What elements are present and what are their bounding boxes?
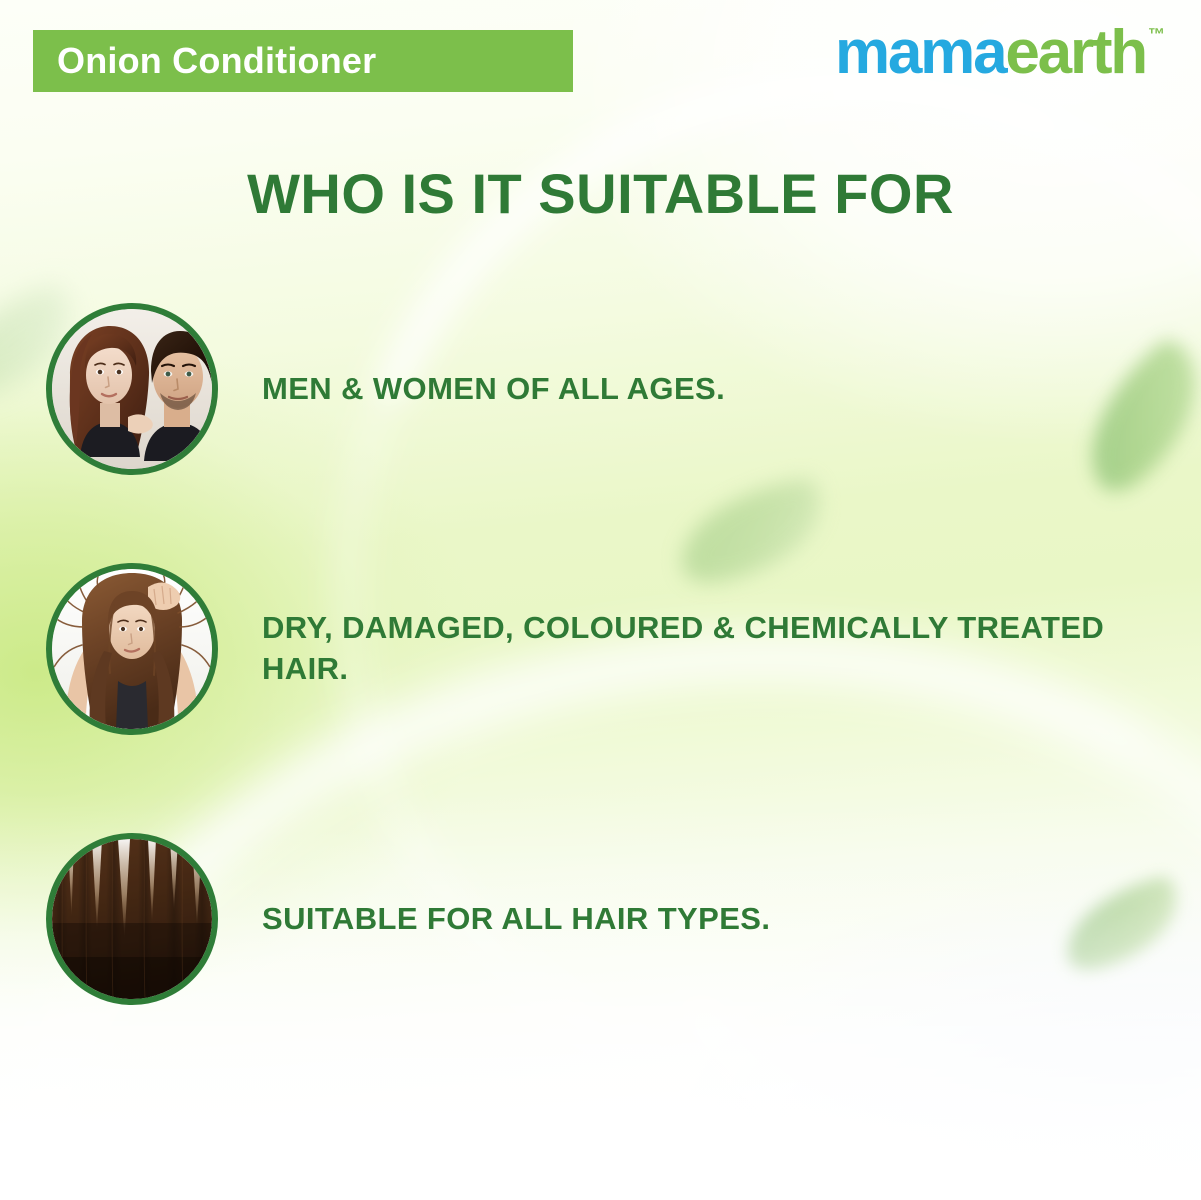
feature-thumbnail [46, 303, 218, 475]
woman-with-damaged-hair-photo [52, 569, 212, 729]
feature-row: SUITABLE FOR ALL HAIR TYPES. [46, 833, 1156, 1005]
brand-logo: mamaearth™ [835, 22, 1165, 84]
feature-label: MEN & WOMEN OF ALL AGES. [262, 369, 725, 409]
page-title: WHO IS IT SUITABLE FOR [0, 165, 1201, 224]
feature-thumbnail [46, 563, 218, 735]
trademark-symbol: ™ [1148, 26, 1165, 43]
feature-label: DRY, DAMAGED, COLOURED & CHEMICALLY TREA… [262, 608, 1122, 690]
glossy-brown-hair-closeup-photo [52, 839, 212, 999]
feature-row: MEN & WOMEN OF ALL AGES. [46, 303, 1156, 475]
feature-thumbnail [46, 833, 218, 1005]
couple-portrait-photo [52, 309, 212, 469]
product-name-badge: Onion Conditioner [33, 30, 573, 92]
poster-canvas: Onion Conditioner mamaearth™ WHO IS IT S… [0, 0, 1201, 1200]
brand-logo-earth: earth [1005, 22, 1146, 84]
feature-row: DRY, DAMAGED, COLOURED & CHEMICALLY TREA… [46, 563, 1156, 735]
brand-logo-mama: mama [835, 22, 1005, 84]
feature-label: SUITABLE FOR ALL HAIR TYPES. [262, 899, 770, 939]
